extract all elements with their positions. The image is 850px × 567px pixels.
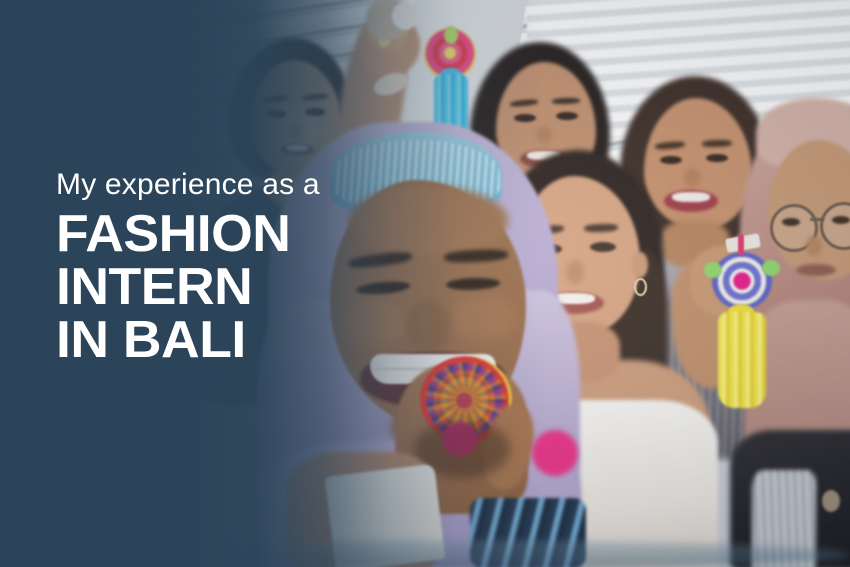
blog-hero-banner: My experience as a FASHION INTERN IN BAL…: [0, 0, 850, 567]
headline-line-2: INTERN: [56, 262, 489, 313]
eyeglasses-bridge: [810, 218, 824, 221]
hero-kicker: My experience as a: [56, 168, 476, 201]
crochet-flower-blue-icon: [712, 252, 772, 310]
table-surface: [0, 540, 850, 567]
headline-line-1: FASHION: [56, 209, 489, 260]
tassel-yellow: [718, 312, 766, 408]
pink-yarn-blob-2: [532, 430, 578, 476]
hero-text-block: My experience as a FASHION INTERN IN BAL…: [56, 168, 476, 368]
hoop-earring-right: [634, 278, 647, 296]
hero-headline: FASHION INTERN IN BALI: [56, 209, 476, 366]
headline-line-3: IN BALI: [56, 315, 489, 366]
